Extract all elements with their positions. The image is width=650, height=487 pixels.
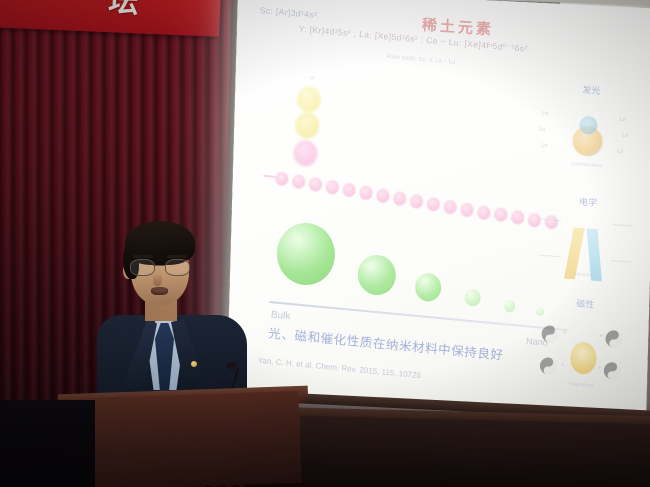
atom-icon — [460, 202, 474, 217]
level-tick — [611, 260, 631, 262]
panel-electronic: 电学 electronic — [534, 192, 639, 289]
atom-icon — [511, 210, 525, 225]
nanoparticle-sphere — [504, 300, 516, 313]
eyeglasses-icon — [127, 259, 195, 275]
atom-icon — [494, 207, 508, 222]
level-tick — [613, 224, 633, 226]
nanoparticle-sphere — [275, 221, 337, 288]
ligand-label: Ln — [617, 148, 623, 154]
yin-yang-icon — [603, 362, 621, 380]
ligand-label: Ln — [622, 133, 628, 139]
speaker-eyebrow — [133, 255, 153, 258]
projection-screen: Sc: [Ar]3d¹4s² Y: [Kr]4d¹5s² ; La: [Xe]5… — [214, 0, 650, 431]
slide-subcaption: Rare earth: Sc, Y, La ~ Lu — [331, 49, 511, 70]
orbital-blob-icon — [293, 139, 319, 167]
atom-icon — [342, 182, 356, 197]
atom-icon — [393, 191, 407, 206]
atom-icon — [359, 185, 373, 200]
atom-icon — [275, 171, 289, 186]
yin-yang-icon — [605, 330, 623, 348]
atom-icon — [308, 177, 322, 192]
glasses-lens-left — [130, 259, 155, 276]
plus-sign: + — [561, 363, 565, 369]
atom-icon — [443, 199, 457, 214]
plus-sign: + — [563, 331, 567, 337]
lapel-pin — [191, 361, 197, 367]
plus-sign: + — [599, 333, 603, 339]
panel-subtitle: luminescence — [537, 158, 637, 171]
atom-icon — [426, 197, 440, 212]
config-line-1: Sc: [Ar]3d¹4s² — [259, 5, 317, 20]
plus-sign: + — [598, 365, 602, 371]
screen-surface: Sc: [Ar]3d¹4s² Y: [Kr]4d¹5s² ; La: [Xe]5… — [227, 0, 650, 413]
atom-icon — [409, 194, 423, 209]
ligand-label: Ln — [539, 126, 545, 132]
atom-icon — [292, 174, 306, 189]
yin-yang-icon — [539, 357, 557, 375]
magnetic-core-icon — [570, 341, 598, 375]
atom-icon — [376, 188, 390, 203]
speaker-mouth — [151, 287, 168, 295]
atom-icon — [325, 180, 339, 195]
ligand-label: Ln — [620, 117, 626, 123]
yin-yang-icon — [541, 325, 559, 343]
orbital-blob-icon — [294, 111, 320, 139]
atom-icon — [477, 205, 491, 220]
nanoparticle-sphere — [357, 253, 397, 296]
desk-surface — [299, 416, 650, 487]
orbital-blob-column: 4f — [287, 85, 332, 168]
speaker-eyebrow — [167, 255, 187, 258]
row-leader-line — [263, 175, 275, 178]
panel-luminescence: 发光 Ln Ln Ln Ln Ln Ln luminescence — [536, 80, 641, 187]
glasses-lens-right — [165, 259, 190, 276]
foreground-shadow — [0, 400, 95, 487]
presentation-slide: Sc: [Ar]3d¹4s² Y: [Kr]4d¹5s² ; La: [Xe]5… — [227, 0, 650, 413]
panel-magnetism: 磁性 + + + + magnetism — [531, 293, 636, 395]
banner-left-glyph: 坛 — [108, 0, 144, 22]
axis-label-bulk: Bulk — [271, 310, 291, 323]
nanoparticle-sphere — [464, 288, 481, 306]
orbital-blob-icon — [296, 85, 322, 113]
ligand-label: Ln — [542, 111, 548, 117]
nanoparticle-sphere — [414, 272, 442, 302]
photo-scene: 坛 坛 Sc: [Ar]3d¹4s² Y: [Kr]4d¹5s² ; La: [… — [0, 0, 650, 487]
level-tick — [541, 219, 561, 221]
ligand-label: Ln — [541, 143, 547, 149]
orbital-label: 4f — [292, 74, 332, 83]
glasses-bridge — [153, 265, 165, 266]
level-tick — [539, 255, 559, 257]
speaker-nose — [153, 273, 162, 286]
